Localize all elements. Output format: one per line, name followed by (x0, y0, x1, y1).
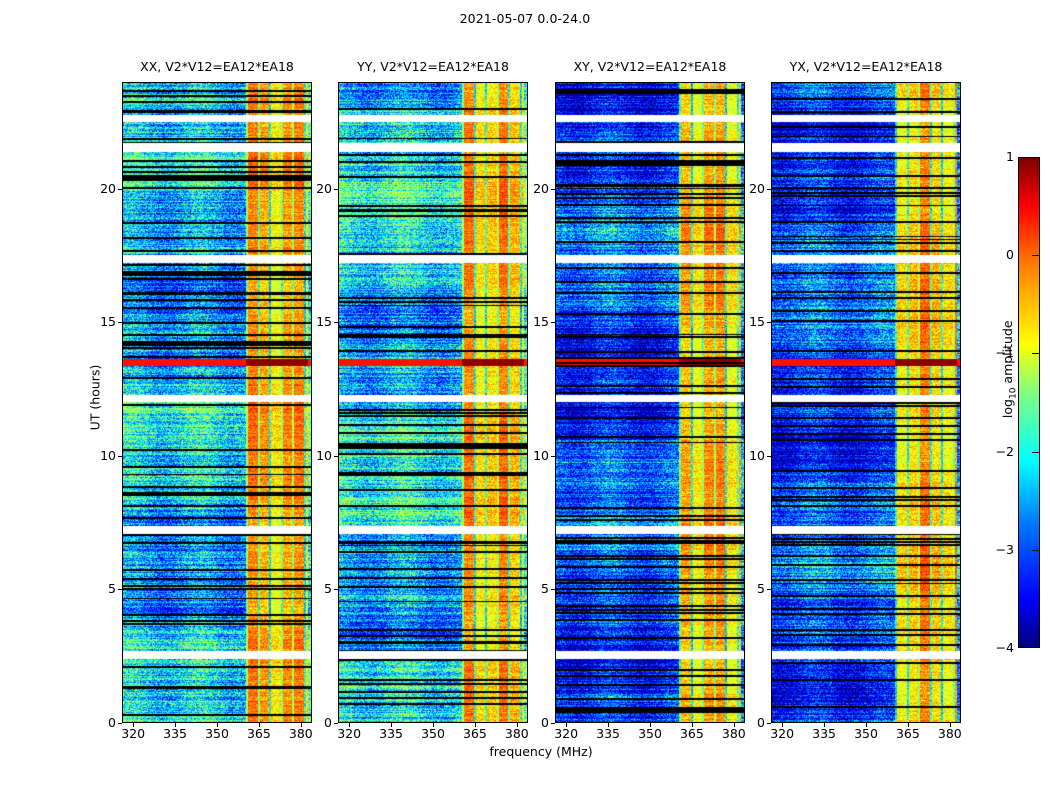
x-tick-mark (259, 723, 260, 727)
y-tick-label: 15 (302, 314, 332, 329)
y-tick-mark (334, 322, 338, 323)
figure-suptitle: 2021-05-07 0.0-24.0 (0, 11, 1050, 26)
colorbar-label: log10 amplitude (1000, 269, 1019, 469)
y-axis-label: UT (hours) (88, 298, 103, 498)
y-tick-mark (767, 322, 771, 323)
x-tick-mark (517, 723, 518, 727)
y-tick-label: 10 (519, 448, 549, 463)
y-tick-label: 20 (735, 181, 765, 196)
y-tick-mark (118, 189, 122, 190)
x-tick-mark (650, 723, 651, 727)
x-axis-label: frequency (MHz) (122, 744, 960, 759)
waterfall-image-xy (556, 83, 745, 723)
panel-title-yx: YX, V2*V12=EA12*EA18 (771, 59, 961, 77)
colorbar-tick-mark (1032, 452, 1040, 453)
x-tick-mark (608, 723, 609, 727)
colorbar-tick-label: 0 (986, 247, 1014, 262)
y-tick-mark (767, 456, 771, 457)
y-tick-mark (767, 723, 771, 724)
y-tick-mark (118, 589, 122, 590)
y-tick-mark (118, 322, 122, 323)
y-tick-label: 0 (519, 715, 549, 730)
y-tick-label: 5 (86, 581, 116, 596)
y-tick-label: 5 (519, 581, 549, 596)
y-tick-label: 0 (735, 715, 765, 730)
y-tick-mark (767, 189, 771, 190)
colorbar-tick-label: −3 (986, 542, 1014, 557)
x-tick-mark (566, 723, 567, 727)
y-tick-mark (334, 723, 338, 724)
waterfall-panel-yy (338, 82, 528, 723)
y-tick-label: 15 (735, 314, 765, 329)
x-tick-mark (950, 723, 951, 727)
x-tick-label: 320 (546, 726, 586, 741)
waterfall-image-yy (339, 83, 528, 723)
x-tick-mark (782, 723, 783, 727)
colorbar-tick-mark (1032, 255, 1040, 256)
x-tick-mark (175, 723, 176, 727)
x-tick-label: 350 (413, 726, 453, 741)
y-tick-label: 10 (735, 448, 765, 463)
x-tick-label: 365 (455, 726, 495, 741)
y-tick-mark (767, 589, 771, 590)
y-tick-mark (118, 456, 122, 457)
x-tick-label: 365 (672, 726, 712, 741)
x-tick-label: 335 (588, 726, 628, 741)
x-tick-label: 320 (762, 726, 802, 741)
y-tick-label: 20 (519, 181, 549, 196)
y-tick-label: 10 (302, 448, 332, 463)
y-tick-label: 15 (519, 314, 549, 329)
y-tick-label: 5 (735, 581, 765, 596)
x-tick-label: 335 (804, 726, 844, 741)
colorbar-tick-mark (1032, 550, 1040, 551)
x-tick-mark (475, 723, 476, 727)
y-tick-mark (334, 456, 338, 457)
x-tick-mark (349, 723, 350, 727)
y-tick-label: 20 (302, 181, 332, 196)
y-tick-label: 20 (86, 181, 116, 196)
colorbar (1018, 157, 1040, 648)
waterfall-image-xx (123, 83, 312, 723)
y-tick-label: 0 (302, 715, 332, 730)
y-tick-mark (551, 723, 555, 724)
y-tick-mark (334, 589, 338, 590)
y-tick-mark (118, 723, 122, 724)
x-tick-label: 350 (630, 726, 670, 741)
x-tick-mark (133, 723, 134, 727)
waterfall-panel-xy (555, 82, 745, 723)
colorbar-tick-label: −4 (986, 640, 1014, 655)
y-tick-mark (551, 322, 555, 323)
x-tick-label: 380 (930, 726, 970, 741)
waterfall-panel-yx (771, 82, 961, 723)
x-tick-label: 335 (155, 726, 195, 741)
panel-title-xx: XX, V2*V12=EA12*EA18 (122, 59, 312, 77)
panel-title-xy: XY, V2*V12=EA12*EA18 (555, 59, 745, 77)
x-tick-label: 335 (371, 726, 411, 741)
waterfall-panel-xx (122, 82, 312, 723)
x-tick-label: 365 (239, 726, 279, 741)
x-tick-label: 320 (113, 726, 153, 741)
y-tick-label: 0 (86, 715, 116, 730)
y-tick-mark (551, 589, 555, 590)
x-tick-mark (866, 723, 867, 727)
x-tick-label: 320 (329, 726, 369, 741)
y-tick-mark (551, 456, 555, 457)
y-tick-label: 5 (302, 581, 332, 596)
x-tick-label: 365 (888, 726, 928, 741)
x-tick-mark (692, 723, 693, 727)
y-tick-mark (551, 189, 555, 190)
panel-title-yy: YY, V2*V12=EA12*EA18 (338, 59, 528, 77)
x-tick-mark (908, 723, 909, 727)
x-tick-mark (824, 723, 825, 727)
x-tick-label: 350 (197, 726, 237, 741)
x-tick-mark (217, 723, 218, 727)
x-tick-mark (433, 723, 434, 727)
waterfall-image-yx (772, 83, 961, 723)
x-tick-mark (391, 723, 392, 727)
x-tick-label: 350 (846, 726, 886, 741)
y-tick-mark (334, 189, 338, 190)
colorbar-tick-label: 1 (986, 149, 1014, 164)
colorbar-tick-mark (1032, 353, 1040, 354)
figure-canvas: 2021-05-07 0.0-24.0 XX, V2*V12=EA12*EA18… (0, 0, 1050, 800)
